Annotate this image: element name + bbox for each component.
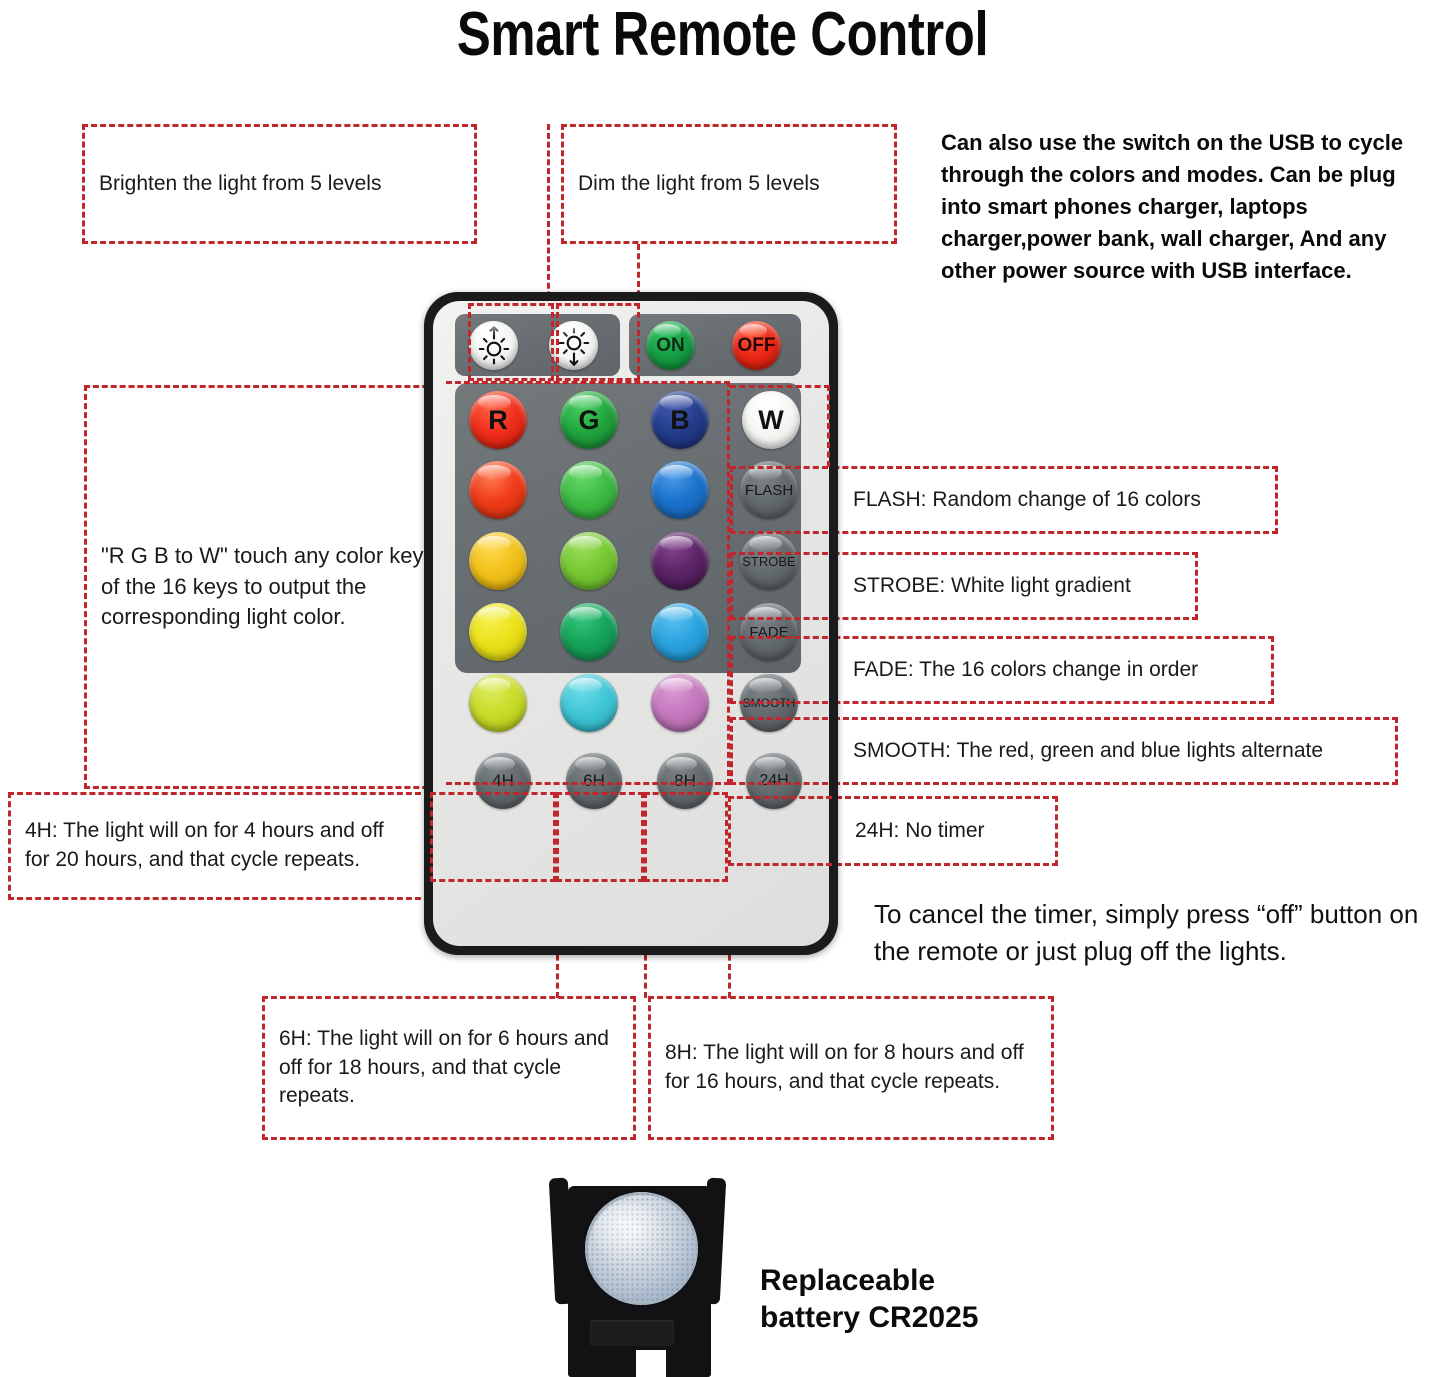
- callout-brighten-text: Brighten the light from 5 levels: [85, 170, 395, 199]
- battery-holder-image: [552, 1178, 727, 1377]
- highlight-smooth-button: [730, 717, 828, 785]
- battery-caption-line1: Replaceable: [760, 1262, 1100, 1299]
- highlight-color-grid: [446, 381, 730, 785]
- battery-tray-notch: [636, 1350, 666, 1377]
- callout-timer-6h: 6H: The light will on for 6 hours and of…: [262, 996, 636, 1140]
- highlight-timer-4h: [430, 792, 556, 882]
- battery-caption-line2: battery CR2025: [760, 1299, 1100, 1336]
- highlight-flash-button: [730, 466, 828, 534]
- cancel-timer-note: To cancel the timer, simply press “off” …: [874, 896, 1444, 970]
- highlight-white-key: [730, 385, 830, 467]
- callout-brighten: Brighten the light from 5 levels: [82, 124, 477, 244]
- callout-rgb-to-w-text: "R G B to W" touch any color key of the …: [87, 541, 443, 632]
- callout-dim-text: Dim the light from 5 levels: [564, 170, 834, 199]
- callout-timer-4h: 4H: The light will on for 4 hours and of…: [8, 792, 430, 900]
- battery-tray-slot: [590, 1320, 674, 1346]
- callout-timer-4h-text: 4H: The light will on for 4 hours and of…: [11, 817, 427, 875]
- callout-timer-8h-text: 8H: The light will on for 8 hours and of…: [651, 1039, 1051, 1097]
- highlight-strobe-button: [730, 552, 828, 620]
- usb-note-text: Can also use the switch on the USB to cy…: [941, 127, 1421, 286]
- power-on-button[interactable]: ON: [646, 321, 695, 370]
- highlight-timer-6h: [556, 792, 644, 882]
- callout-timer-6h-text: 6H: The light will on for 6 hours and of…: [265, 1025, 633, 1112]
- highlight-brightness-down: [556, 303, 640, 381]
- highlight-timer-24h: [728, 796, 832, 866]
- battery-caption: Replaceable battery CR2025: [760, 1262, 1100, 1336]
- page-title: Smart Remote Control: [130, 2, 1315, 67]
- power-on-label: ON: [656, 335, 685, 357]
- highlight-timer-8h: [644, 792, 728, 882]
- callout-dim: Dim the light from 5 levels: [561, 124, 897, 244]
- callout-timer-8h: 8H: The light will on for 8 hours and of…: [648, 996, 1054, 1140]
- power-off-button[interactable]: OFF: [732, 321, 781, 370]
- highlight-brightness-up: [468, 303, 554, 381]
- callout-rgb-to-w: "R G B to W" touch any color key of the …: [84, 385, 446, 789]
- coin-cell-battery: [585, 1192, 698, 1305]
- highlight-fade-button: [730, 636, 828, 704]
- power-off-label: OFF: [738, 335, 776, 357]
